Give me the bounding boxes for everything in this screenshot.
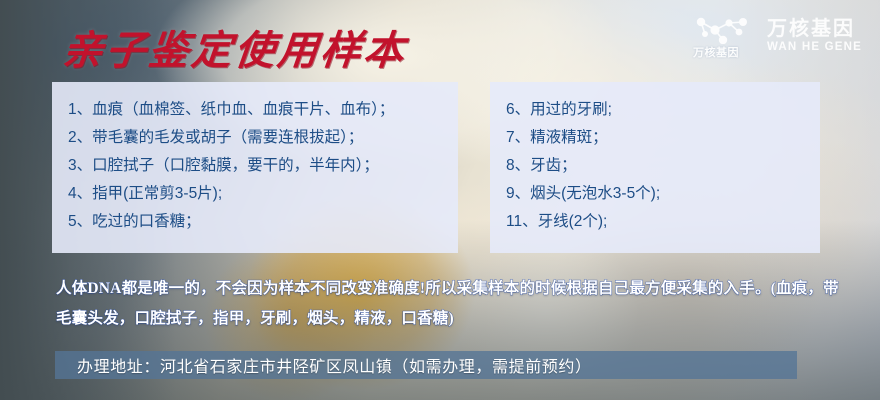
list-item: 4、指甲(正常剪3-5片);	[68, 180, 442, 208]
list-item: 9、烟头(无泡水3-5个);	[506, 180, 804, 208]
sample-list-panel-right: 6、用过的牙刷; 7、精液精斑； 8、牙齿； 9、烟头(无泡水3-5个); 11…	[490, 82, 820, 253]
logo-mark-label: 万核基因	[693, 44, 739, 60]
brand-name-block: 万核基因 WAN HE GENE	[767, 18, 862, 54]
list-item: 6、用过的牙刷;	[506, 96, 804, 124]
brand-name-cn: 万核基因	[767, 18, 862, 41]
list-item: 5、吃过的口香糖；	[68, 208, 442, 236]
list-item: 3、口腔拭子（口腔黏膜，要干的，半年内）；	[68, 152, 442, 180]
sample-list-left: 1、血痕（血棉签、纸巾血、血痕干片、血布）； 2、带毛囊的毛发或胡子（需要连根拔…	[68, 96, 442, 236]
list-item: 8、牙齿；	[506, 152, 804, 180]
brand-name-en: WAN HE GENE	[767, 41, 862, 54]
list-item: 2、带毛囊的毛发或胡子（需要连根拔起）；	[68, 124, 442, 152]
office-address-text: 办理地址：河北省石家庄市井陉矿区凤山镇（如需办理，需提前预约）	[77, 353, 592, 377]
sample-list-right: 6、用过的牙刷; 7、精液精斑； 8、牙齿； 9、烟头(无泡水3-5个); 11…	[506, 96, 804, 236]
page-title: 亲子鉴定使用样本	[60, 18, 410, 76]
list-item: 7、精液精斑；	[506, 124, 804, 152]
poster-root: 万核基因 万核基因 WAN HE GENE 亲子鉴定使用样本 1、血痕（血棉签、…	[0, 0, 880, 400]
brand-logo: 万核基因 万核基因 WAN HE GENE	[693, 14, 862, 58]
molecule-dna-icon: 万核基因	[693, 14, 755, 58]
sample-list-panel-left: 1、血痕（血棉签、纸巾血、血痕干片、血布）； 2、带毛囊的毛发或胡子（需要连根拔…	[52, 82, 458, 253]
list-item: 11、牙线(2个);	[506, 208, 804, 236]
office-address-bar: 办理地址：河北省石家庄市井陉矿区凤山镇（如需办理，需提前预约）	[55, 351, 797, 379]
dna-note-text: 人体DNA都是唯一的，不会因为样本不同改变准确度!所以采集样本的时候根据自己最方…	[56, 274, 846, 334]
list-item: 1、血痕（血棉签、纸巾血、血痕干片、血布）；	[68, 96, 442, 124]
